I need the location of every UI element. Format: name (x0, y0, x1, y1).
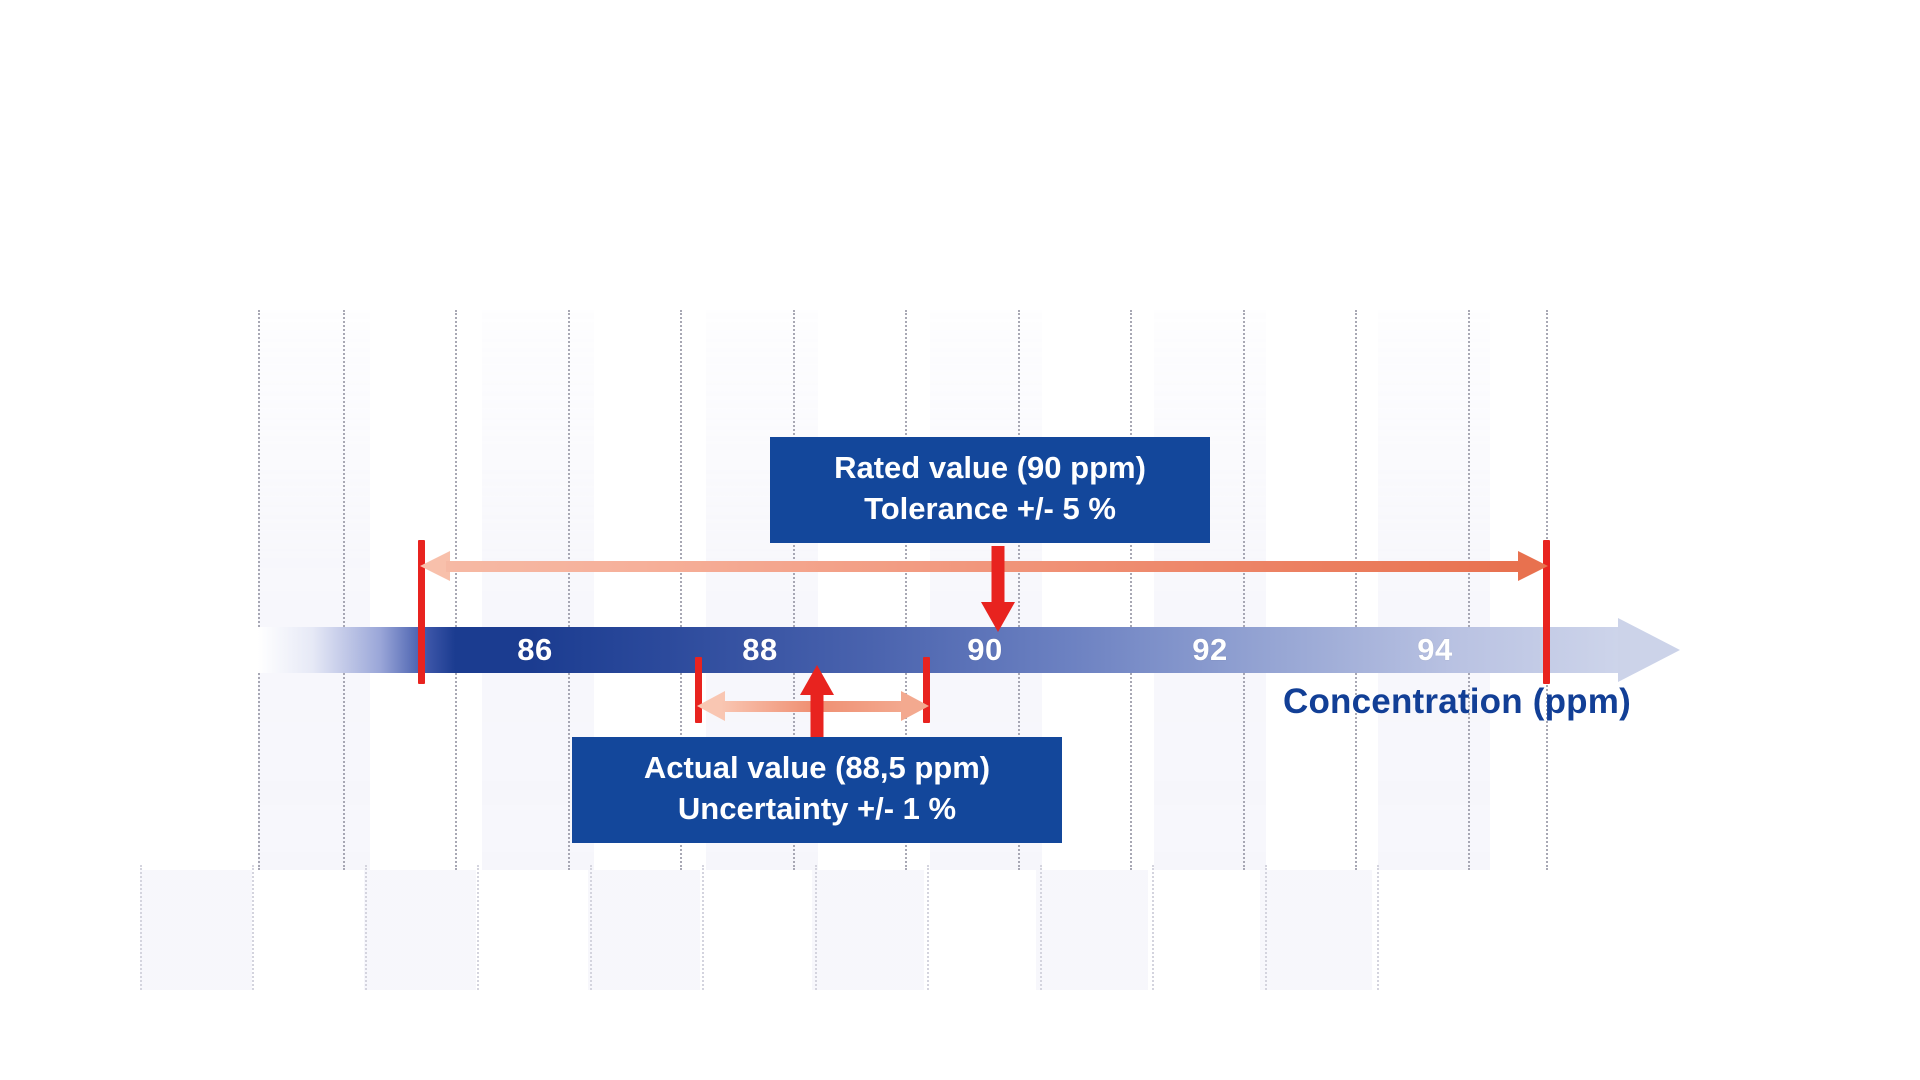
rated-value-line2: Tolerance +/- 5 % (788, 489, 1192, 530)
gridline (258, 310, 260, 870)
axis-tick-92: 92 (1192, 627, 1227, 673)
background-gridlines-lower (140, 865, 1450, 990)
gridline (1130, 310, 1132, 870)
gridline (140, 865, 142, 990)
gridline (927, 865, 929, 990)
pointer-stem (992, 546, 1005, 604)
background-stripe-bands-lower (140, 870, 1450, 990)
arrow-head-right-icon (1518, 551, 1548, 581)
axis-band-gradient (258, 627, 1618, 673)
axis-arrowhead-icon (1618, 618, 1680, 682)
gridline (455, 310, 457, 870)
gridline (1152, 865, 1154, 990)
pointer-tip (981, 602, 1015, 632)
axis-tick-94: 94 (1417, 627, 1452, 673)
gridline (1265, 865, 1267, 990)
rated-value-callout: Rated value (90 ppm) Tolerance +/- 5 % (770, 437, 1210, 543)
gridline (1040, 865, 1042, 990)
axis-tick-86: 86 (517, 627, 552, 673)
rated-value-pointer-down-icon (978, 546, 1018, 632)
gridline (343, 310, 345, 870)
actual-value-callout: Actual value (88,5 ppm) Uncertainty +/- … (572, 737, 1062, 843)
rated-value-line1: Rated value (90 ppm) (788, 448, 1192, 489)
axis-title-concentration: Concentration (ppm) (1283, 682, 1631, 722)
pointer-tip (800, 665, 834, 695)
diagram-canvas: 86 88 90 92 94 Rated value (90 ppm) Tole… (0, 0, 1920, 1080)
gridline (477, 865, 479, 990)
gridline (365, 865, 367, 990)
axis-tick-90: 90 (967, 627, 1002, 673)
gridline (1355, 310, 1357, 870)
gridline (702, 865, 704, 990)
concentration-axis-band: 86 88 90 92 94 (258, 627, 1680, 673)
actual-value-line2: Uncertainty +/- 1 % (590, 789, 1044, 830)
axis-tick-88: 88 (742, 627, 777, 673)
gridline (815, 865, 817, 990)
actual-value-line1: Actual value (88,5 ppm) (590, 748, 1044, 789)
gridline (1468, 310, 1470, 870)
arrow-head-right-icon (901, 691, 929, 721)
gridline (1243, 310, 1245, 870)
gridline (590, 865, 592, 990)
gridline (1377, 865, 1379, 990)
gridline (568, 310, 570, 870)
gridline (252, 865, 254, 990)
